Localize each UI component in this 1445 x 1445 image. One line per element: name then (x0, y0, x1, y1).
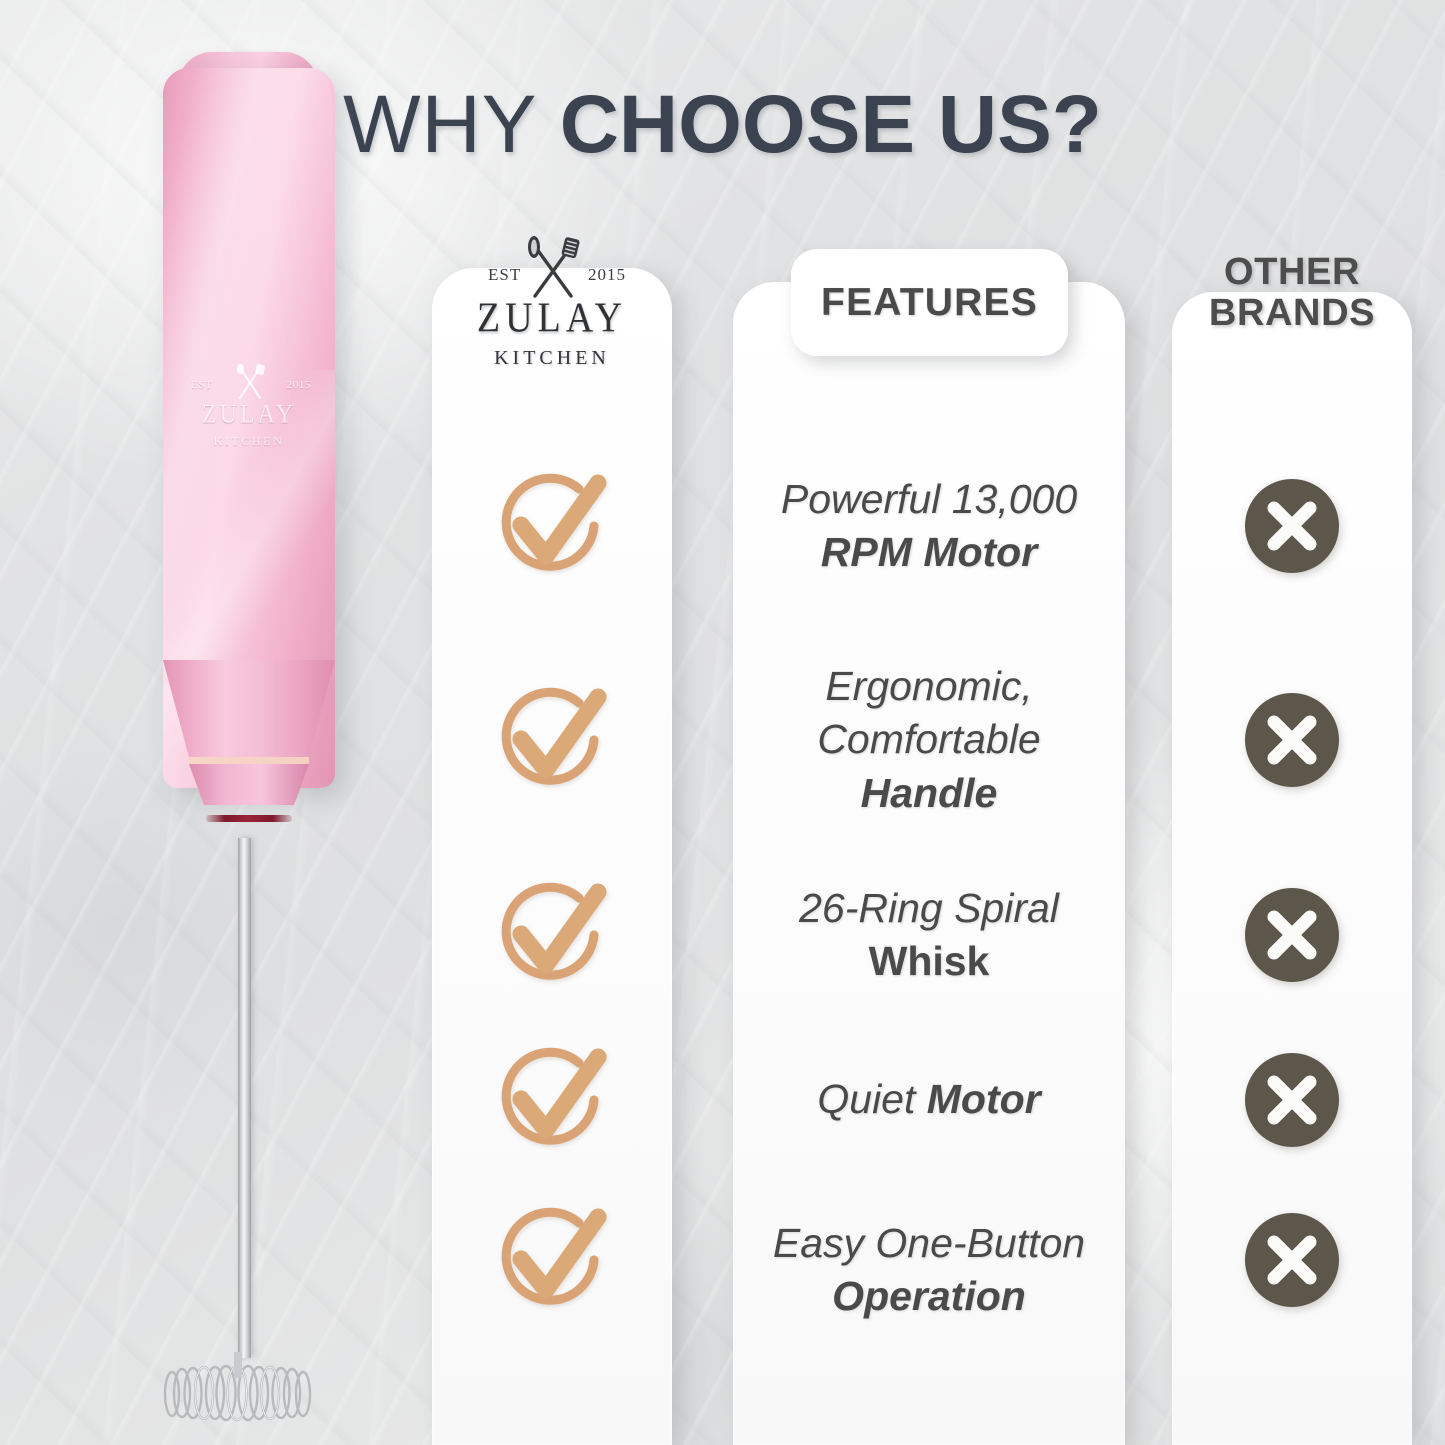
features-header-label: FEATURES (821, 281, 1038, 325)
feature-row-3-line-2: Whisk (869, 935, 990, 988)
check-circle-icon (493, 684, 611, 796)
feature-text-row-4: Quiet Motor (733, 1040, 1125, 1160)
page-title-bold: CHOOSE US? (560, 79, 1102, 170)
feature-text-row-3: 26-Ring Spiral Whisk (733, 875, 1125, 995)
check-icon-row-5 (432, 1200, 672, 1320)
crossed-whisk-spatula-icon (522, 235, 584, 301)
feature-row-1-line-2: RPM Motor (821, 526, 1037, 579)
feature-row-4-line-1: Quiet Motor (817, 1073, 1040, 1126)
frother-steel-shaft (238, 838, 251, 1358)
cross-icon-row-1 (1172, 466, 1412, 586)
comparison-infographic: WHY CHOOSE US? (0, 0, 1445, 1445)
other-brands-line1: OTHER (1172, 252, 1412, 293)
feature-row-2-line-2: Comfortable (817, 713, 1040, 766)
frother-logo-sub: KITCHEN (214, 434, 285, 449)
crossed-whisk-spatula-icon (233, 362, 267, 402)
logo-utensils-row: EST 2015 (452, 235, 652, 300)
logo-est-label: EST (488, 265, 521, 285)
x-circle-icon (1241, 1049, 1343, 1151)
frother-embossed-logo: EST 2015 ZULAY KITCHEN (168, 362, 330, 462)
x-circle-icon (1241, 475, 1343, 577)
check-icon-row-2 (432, 680, 672, 800)
cross-icon-row-2 (1172, 680, 1412, 800)
feature-row-2-line-1: Ergonomic, (825, 660, 1032, 713)
feature-text-row-2: Ergonomic, Comfortable Handle (733, 658, 1125, 822)
zulay-kitchen-logo: EST 2015 Z (432, 235, 672, 370)
other-brands-header: OTHER BRANDS (1172, 252, 1412, 333)
check-circle-icon (493, 1204, 611, 1316)
check-icon-row-1 (432, 466, 672, 586)
check-icon-row-4 (432, 1040, 672, 1160)
frother-taper (163, 660, 335, 805)
check-icon-row-3 (432, 875, 672, 995)
feature-row-4-part-2: Motor (927, 1076, 1041, 1122)
feature-row-5-line-2: Operation (832, 1270, 1026, 1323)
cross-icon-row-3 (1172, 875, 1412, 995)
x-circle-icon (1241, 689, 1343, 791)
feature-row-5-line-1: Easy One-Button (773, 1217, 1085, 1270)
frother-logo-est: EST (191, 379, 212, 391)
features-header-pill: FEATURES (791, 249, 1068, 356)
feature-row-1-line-1: Powerful 13,000 (781, 473, 1077, 526)
logo-brand-name: ZULAY (477, 293, 627, 342)
logo-est-year: 2015 (588, 265, 626, 285)
frother-logo-brand: ZULAY (202, 401, 296, 431)
check-circle-icon (493, 1044, 611, 1156)
frother-logo-year: 2015 (287, 379, 311, 391)
check-circle-icon (493, 879, 611, 991)
feature-row-3-line-1: 26-Ring Spiral (799, 882, 1059, 935)
feature-row-2-line-3: Handle (861, 767, 998, 820)
other-brands-line2: BRANDS (1172, 293, 1412, 334)
feature-text-row-5: Easy One-Button Operation (733, 1210, 1125, 1330)
x-circle-icon (1241, 884, 1343, 986)
logo-brand-sub: KITCHEN (494, 347, 610, 370)
feature-row-4-part-1: Quiet (817, 1076, 926, 1122)
check-circle-icon (493, 470, 611, 582)
product-image-milk-frother: EST 2015 ZULAY KITCHEN (0, 0, 430, 1445)
feature-text-row-1: Powerful 13,000 RPM Motor (733, 466, 1125, 586)
frother-spiral-whisk (146, 1352, 336, 1434)
frother-seam (206, 815, 292, 822)
x-circle-icon (1241, 1209, 1343, 1311)
cross-icon-row-4 (1172, 1040, 1412, 1160)
cross-icon-row-5 (1172, 1200, 1412, 1320)
